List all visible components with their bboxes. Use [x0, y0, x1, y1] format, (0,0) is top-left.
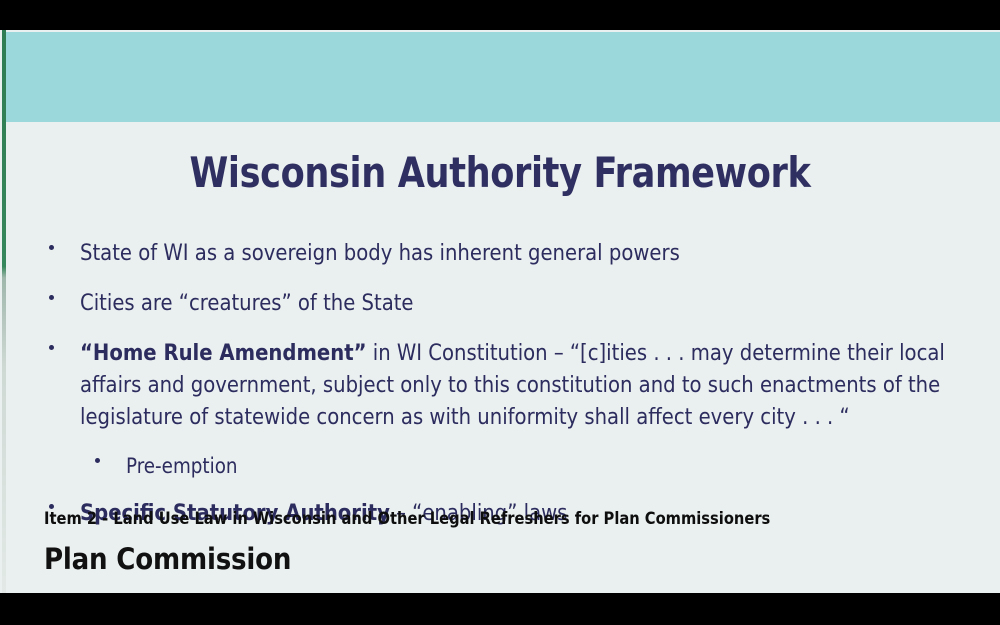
- bullet-segment-bold: “Home Rule Amendment”: [80, 340, 366, 366]
- letterbox-top: [0, 0, 1000, 30]
- left-accent-strip: [2, 30, 6, 593]
- slide-title: Wisconsin Authority Framework: [35, 148, 965, 197]
- bullet-item: “Home Rule Amendment” in WI Constitution…: [42, 338, 982, 434]
- bullet-dot-icon: [49, 245, 54, 250]
- presentation-slide: Wisconsin Authority Framework State of W…: [0, 30, 1000, 593]
- bullet-dot-icon: [49, 295, 54, 300]
- bullet-text: Cities are “creatures” of the State: [80, 288, 955, 320]
- bullet-text: Pre-emption: [126, 452, 956, 482]
- bullet-dot-icon: [95, 458, 100, 463]
- slide-footer-banner: Item 2 - Land Use Law in Wisconsin and O…: [0, 505, 1000, 593]
- bullet-segment: Cities are “creatures” of the State: [80, 290, 414, 316]
- bullet-segment: Pre-emption: [126, 454, 238, 478]
- bullet-text: State of WI as a sovereign body has inhe…: [80, 238, 955, 270]
- bullet-list: State of WI as a sovereign body has inhe…: [42, 238, 982, 547]
- bullet-item-sub: Pre-emption: [42, 452, 982, 482]
- bullet-text: “Home Rule Amendment” in WI Constitution…: [80, 338, 955, 434]
- banner-item-title: Item 2 - Land Use Law in Wisconsin and O…: [44, 509, 770, 529]
- letterbox-bottom: [0, 593, 1000, 625]
- banner-body-title: Plan Commission: [44, 542, 291, 576]
- slide-header-teal-band: [6, 32, 1000, 122]
- video-player-frame: Wisconsin Authority Framework State of W…: [0, 0, 1000, 625]
- bullet-segment: State of WI as a sovereign body has inhe…: [80, 240, 680, 266]
- bullet-dot-icon: [49, 345, 54, 350]
- bullet-item: State of WI as a sovereign body has inhe…: [42, 238, 982, 270]
- bullet-item: Cities are “creatures” of the State: [42, 288, 982, 320]
